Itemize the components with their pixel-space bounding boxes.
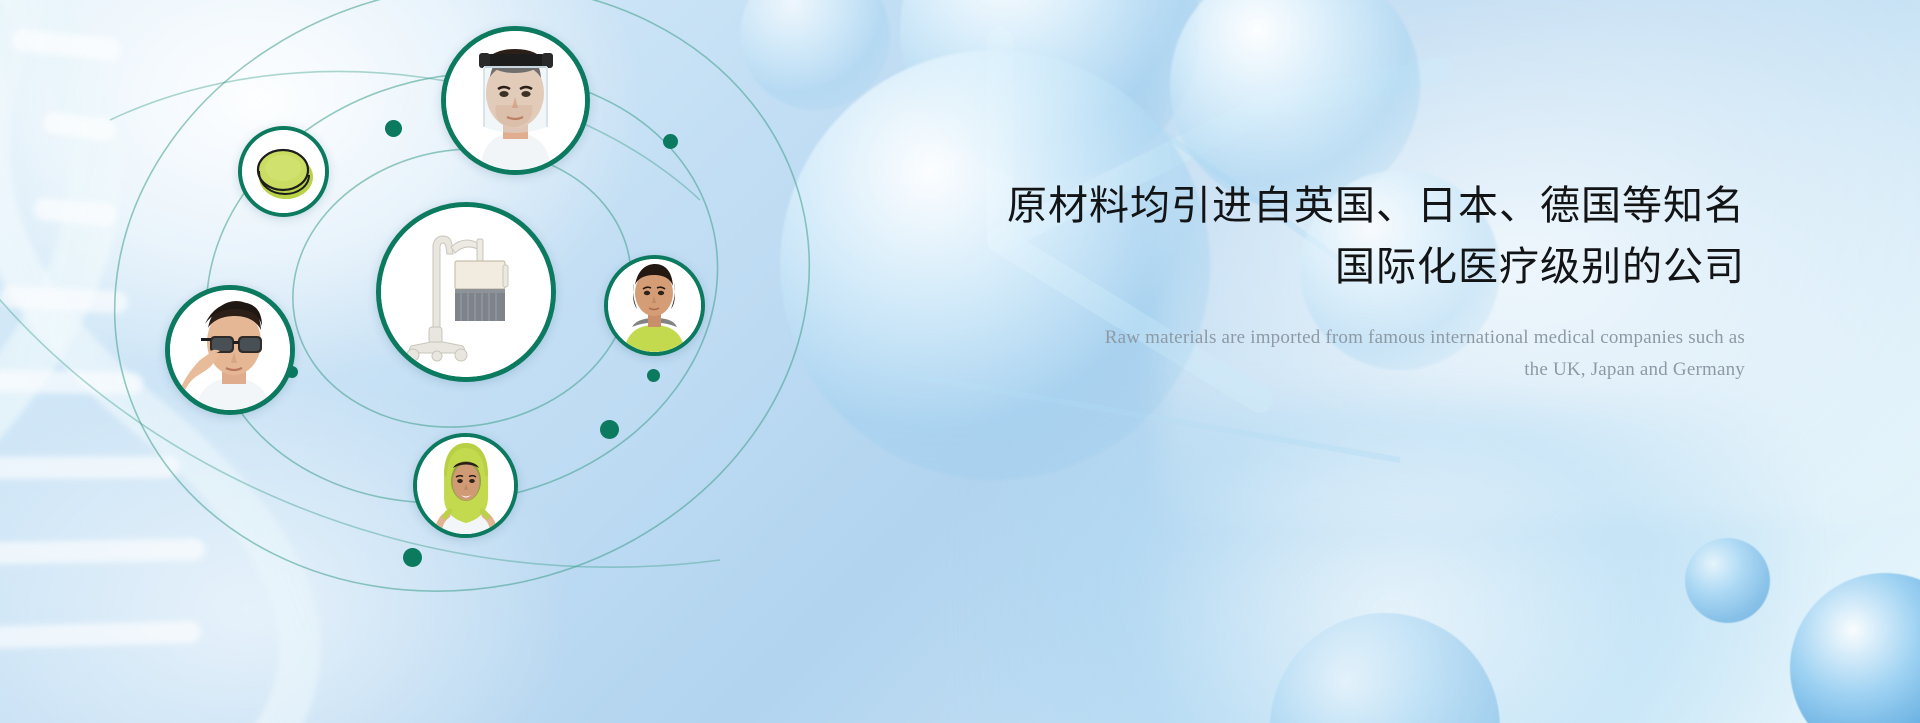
hero-text-block: 原材料均引进自英国、日本、德国等知名 国际化医疗级别的公司 Raw materi… xyxy=(965,178,1745,387)
thyroid-collar-photo xyxy=(608,259,701,352)
woman-wearing-thyroid-collar-bubble xyxy=(604,255,705,356)
man-wearing-radiation-glasses-bubble xyxy=(165,285,295,415)
protective-cap-icon xyxy=(242,130,325,213)
accent-dot xyxy=(385,120,402,137)
man-wearing-radiation-face-shield-bubble xyxy=(441,26,590,175)
radiation-glasses-photo xyxy=(170,290,290,410)
cloud-wash-bottom-right xyxy=(980,403,1800,723)
protective-hood-photo xyxy=(417,437,514,534)
blue-orb-small xyxy=(1685,538,1770,623)
accent-dot xyxy=(647,369,660,382)
hero-banner: 原材料均引进自英国、日本、德国等知名 国际化医疗级别的公司 Raw materi… xyxy=(0,0,1920,723)
accent-dot xyxy=(403,548,422,567)
lead-protective-cap-bubble xyxy=(238,126,329,217)
lead-screen-icon xyxy=(381,207,551,377)
blue-orb-corner xyxy=(1790,573,1920,723)
blue-orb-large xyxy=(1270,613,1500,723)
accent-dot xyxy=(600,420,619,439)
subtitle-line-2: the UK, Japan and Germany xyxy=(965,354,1745,387)
subtitle-line-1: Raw materials are imported from famous i… xyxy=(965,322,1745,355)
headline-line-1: 原材料均引进自英国、日本、德国等知名 xyxy=(965,178,1745,235)
mobile-x-ray-protective-screen-bubble xyxy=(376,202,556,382)
woman-wearing-protective-hood-bubble xyxy=(413,433,518,538)
headline-line-2: 国际化医疗级别的公司 xyxy=(965,239,1745,296)
face-shield-photo xyxy=(446,31,585,170)
accent-dot xyxy=(663,134,678,149)
subtitle: Raw materials are imported from famous i… xyxy=(965,322,1745,387)
